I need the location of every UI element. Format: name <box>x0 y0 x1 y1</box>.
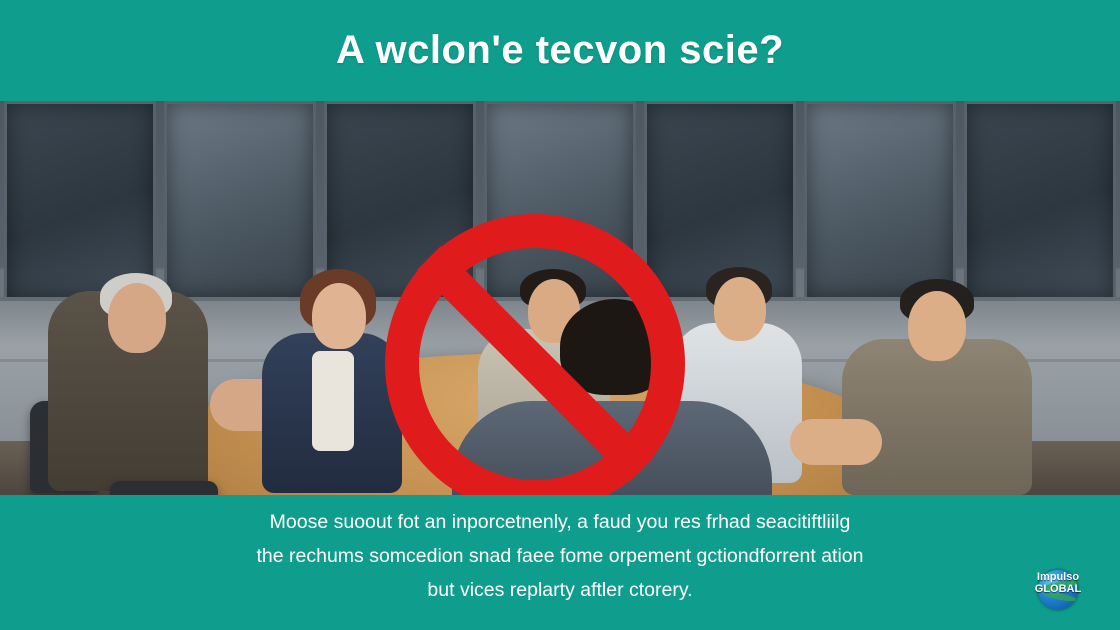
meeting-photo <box>0 101 1120 495</box>
caption-block: Moose suoout fot an inporcetnenly, a fau… <box>0 505 1120 607</box>
caption-band: Moose suoout fot an inporcetnenly, a fau… <box>0 495 1120 630</box>
caption-line-2: the rechums somcedion snad faee fome orp… <box>70 539 1050 573</box>
impulso-global-logo: Impulso GLOBAL <box>1012 560 1104 620</box>
window-pane <box>804 101 956 301</box>
page-title: A wclon'e tecvon scie? <box>336 28 784 73</box>
slide-root: A wclon'e tecvon scie? <box>0 0 1120 630</box>
window-pane <box>4 101 156 301</box>
window-pane <box>164 101 316 301</box>
window-pane <box>964 101 1116 301</box>
caption-line-1: Moose suoout fot an inporcetnenly, a fau… <box>70 505 1050 539</box>
caption-line-3: but vices replarty aftler ctorery. <box>70 573 1050 607</box>
globe-icon <box>1038 570 1078 610</box>
chair <box>110 481 218 495</box>
header-band: A wclon'e tecvon scie? <box>0 0 1120 101</box>
prohibition-sign-bar <box>417 246 653 482</box>
prohibition-sign-icon <box>385 214 685 495</box>
